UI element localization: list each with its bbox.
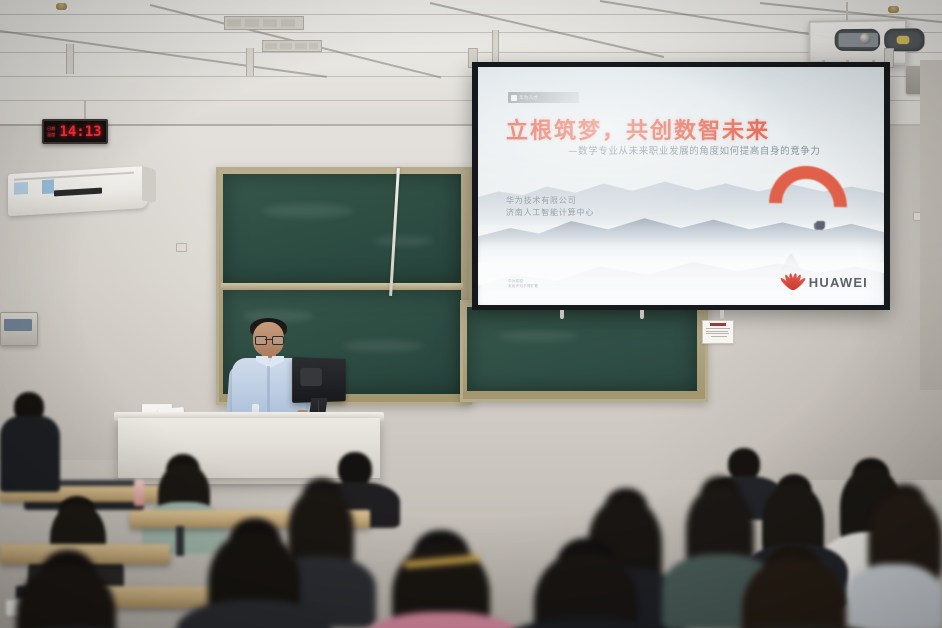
clock-line-1: 日期 — [47, 127, 55, 131]
led-wall-clock: 日期 温度 14:13 — [42, 119, 108, 144]
clock-hanger — [84, 100, 86, 120]
paraglider-canopy-icon — [768, 167, 822, 219]
clock-line-2: 温度 — [47, 133, 55, 137]
screen-hook-3 — [720, 310, 724, 319]
slide-footer-line-2: 未经许可不得扩散 — [508, 284, 538, 289]
slide-footer: 华为机密 未经许可不得扩散 — [508, 279, 538, 289]
screen-hook-2 — [640, 310, 644, 319]
blackboard-upper-panel — [223, 174, 461, 284]
projector-mount-arm — [846, 2, 848, 22]
door-frame — [920, 60, 942, 390]
lecture-hall-photo: 日期 温度 14:13 — [0, 0, 942, 628]
slide-subtitle: —数学专业从未来职业发展的角度如何提高自身的竞争力 — [568, 143, 821, 157]
huawei-flower-icon — [783, 273, 803, 291]
sprinkler-head-icon — [56, 3, 67, 10]
blackboard-secondary-panel — [467, 307, 697, 391]
ceiling-light-fixture — [224, 16, 304, 30]
blackboard-secondary — [460, 300, 708, 402]
screen-hook-1 — [560, 310, 564, 319]
slide-badge: 华为人才 — [508, 92, 579, 103]
desk-leg — [176, 526, 184, 556]
ceiling-light-fixture-2 — [262, 40, 322, 52]
projection-screen-frame: 华为人才 立根筑梦，共创数智未来 —数学专业从未来职业发展的角度如何提高自身的竞… — [472, 62, 890, 310]
slide-title: 立根筑梦，共创数智未来 — [506, 113, 770, 145]
clock-time-display: 14:13 — [59, 124, 101, 140]
slide-organization: 华为技术有限公司 济南人工智能计算中心 — [506, 195, 594, 219]
standing-person-body — [0, 416, 60, 492]
wall-control-panel[interactable] — [0, 312, 38, 346]
wall-socket-icon — [176, 243, 187, 252]
paraglider-pilot-icon — [816, 221, 825, 230]
podium-monitor[interactable] — [292, 357, 346, 403]
sprinkler-head-icon-2 — [888, 6, 899, 13]
slide-badge-label: 华为人才 — [519, 95, 538, 101]
slide-org-line-2: 济南人工智能计算中心 — [506, 207, 594, 219]
speaker-shirt-placket — [267, 366, 270, 418]
desk-bottle — [134, 480, 144, 506]
huawei-logo: HUAWEI — [783, 273, 868, 291]
control-panel-screen — [4, 319, 32, 331]
projection-screen[interactable]: 华为人才 立根筑梦，共创数智未来 —数学专业从未来职业发展的角度如何提高自身的竞… — [478, 67, 884, 305]
air-conditioner-unit — [8, 166, 148, 216]
audience-area — [0, 440, 942, 628]
badge-square-icon — [511, 95, 517, 101]
slide-org-line-1: 华为技术有限公司 — [506, 195, 594, 207]
huawei-wordmark: HUAWEI — [809, 275, 868, 290]
wall-notice — [702, 320, 734, 344]
glasses-icon — [255, 336, 282, 343]
chalk-rail — [221, 283, 463, 290]
